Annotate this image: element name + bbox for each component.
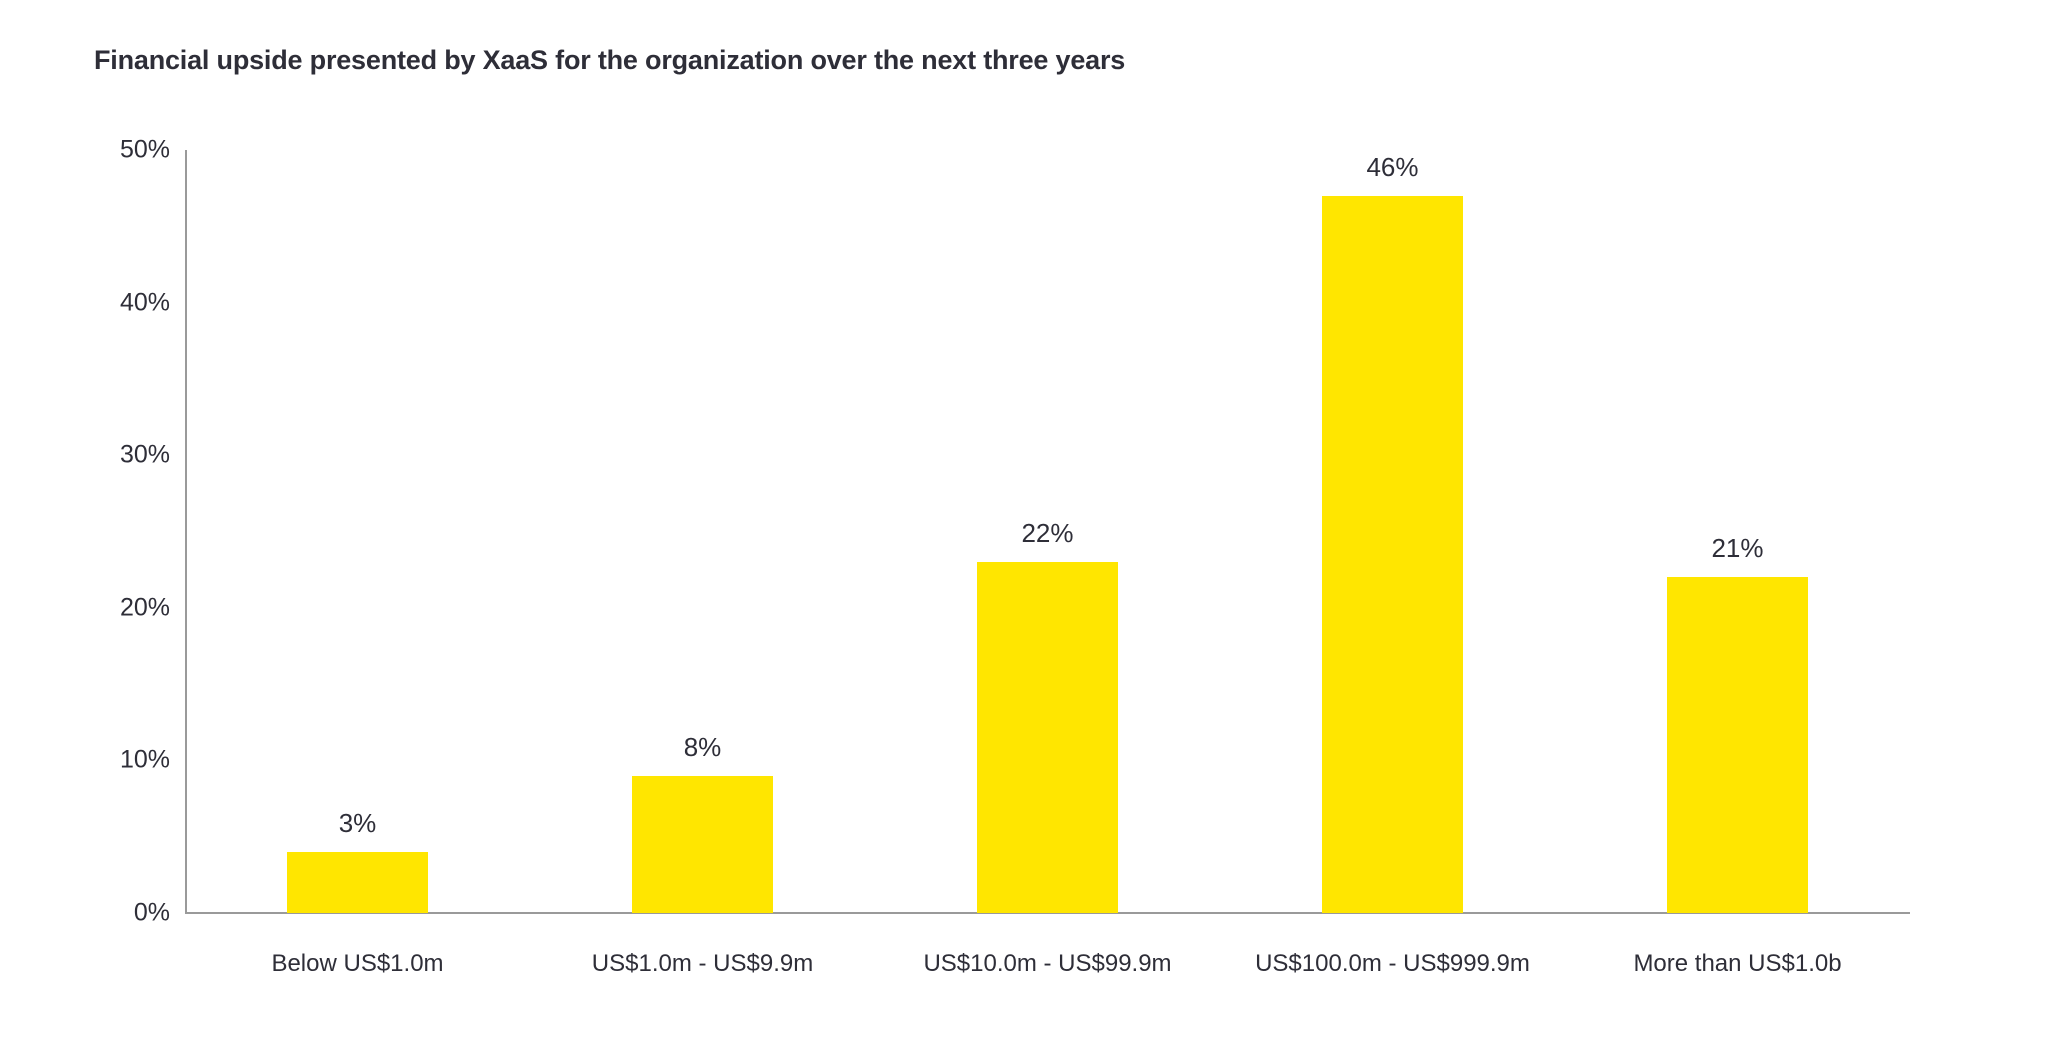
x-axis-category-label: US$1.0m - US$9.9m	[503, 952, 903, 976]
bar-chart: Financial upside presented by XaaS for t…	[0, 0, 2048, 1042]
plot-area	[185, 150, 1910, 913]
x-axis-category-label: More than US$1.0b	[1538, 952, 1938, 976]
x-axis-category-label: US$100.0m - US$999.9m	[1193, 952, 1593, 976]
x-axis-category-label: US$10.0m - US$99.9m	[848, 952, 1248, 976]
x-axis-category-label: Below US$1.0m	[158, 952, 558, 976]
